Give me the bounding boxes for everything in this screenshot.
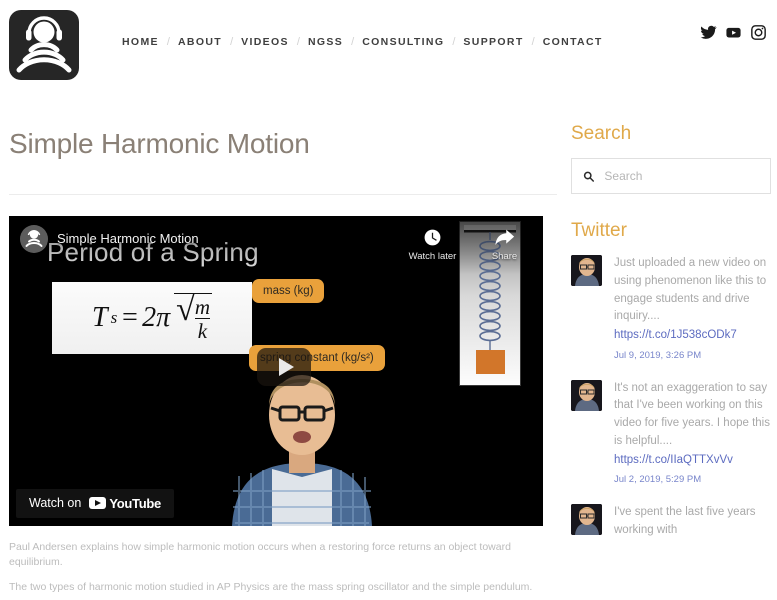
- description-line: The two types of harmonic motion studied…: [9, 580, 557, 596]
- avatar[interactable]: [571, 380, 602, 411]
- search-input[interactable]: [604, 169, 759, 183]
- youtube-logo: YouTube: [89, 496, 161, 511]
- youtube-link[interactable]: [725, 24, 742, 41]
- tweet-date: Jul 2, 2019, 5:29 PM: [614, 474, 771, 485]
- channel-logo-icon: [20, 225, 48, 253]
- nav-item-contact[interactable]: CONTACT: [543, 34, 603, 50]
- description-line: Paul Andersen explains how simple harmon…: [9, 540, 557, 572]
- page-title: Simple Harmonic Motion: [9, 127, 557, 161]
- content-wrapper: Simple Harmonic Motion Period of a Sprin…: [0, 95, 777, 600]
- site-logo[interactable]: [9, 10, 79, 80]
- watch-later-label: Watch later: [405, 251, 460, 262]
- twitter-link[interactable]: [700, 24, 717, 41]
- share-arrow-icon: [477, 227, 532, 249]
- label-mass: mass (kg): [252, 279, 324, 303]
- fraction-denominator: k: [195, 318, 210, 342]
- tweet-text: Just uploaded a new video on using pheno…: [614, 255, 771, 326]
- tweet-item: It's not an exaggeration to say that I'v…: [571, 380, 771, 486]
- twitter-icon: [700, 24, 717, 41]
- video-action-buttons: Watch later Share: [405, 225, 532, 262]
- nav-separator: /: [532, 36, 535, 48]
- tweet-link[interactable]: https://t.co/IIaQTTXvVv: [614, 452, 771, 469]
- twitter-heading: Twitter: [571, 220, 771, 242]
- avatar[interactable]: [571, 504, 602, 535]
- avatar[interactable]: [571, 255, 602, 286]
- nav-separator: /: [297, 36, 300, 48]
- avatar-image: [571, 504, 602, 535]
- nav-item-support[interactable]: SUPPORT: [463, 34, 523, 50]
- nav-item-home[interactable]: HOME: [122, 34, 159, 50]
- formula-equals: =: [120, 302, 139, 334]
- clock-icon: [405, 227, 460, 249]
- nav-item-consulting[interactable]: CONSULTING: [362, 34, 444, 50]
- channel-avatar[interactable]: [20, 225, 48, 253]
- tweet-body: It's not an exaggeration to say that I'v…: [614, 380, 771, 486]
- fraction-numerator: m: [195, 296, 210, 318]
- avatar-image: [571, 380, 602, 411]
- title-divider: [9, 194, 557, 195]
- youtube-play-icon: [89, 497, 106, 509]
- nav-item-about[interactable]: ABOUT: [178, 34, 222, 50]
- sidebar: Search Twitter: [571, 95, 771, 559]
- main-column: Simple Harmonic Motion Period of a Sprin…: [9, 95, 557, 600]
- formula-coefficient: 2π: [142, 302, 170, 334]
- nav-item-videos[interactable]: VIDEOS: [241, 34, 289, 50]
- nav-separator: /: [230, 36, 233, 48]
- play-triangle-icon: [279, 358, 294, 376]
- tweet-date: Jul 9, 2019, 3:26 PM: [614, 350, 771, 361]
- tweet-text: It's not an exaggeration to say that I'v…: [614, 380, 771, 451]
- search-heading: Search: [571, 123, 771, 145]
- period-formula: Ts = 2π √ m k: [92, 293, 212, 342]
- nav-separator: /: [167, 36, 170, 48]
- share-label: Share: [477, 251, 532, 262]
- youtube-wordmark: YouTube: [109, 496, 161, 511]
- tweet-body: Just uploaded a new video on using pheno…: [614, 255, 771, 361]
- nav-separator: /: [351, 36, 354, 48]
- watch-later-button[interactable]: Watch later: [405, 227, 460, 262]
- tweet-link[interactable]: https://t.co/1J538cODk7: [614, 327, 771, 344]
- video-top-overlay: Simple Harmonic Motion Watch later: [9, 216, 543, 274]
- watch-on-label: Watch on: [29, 496, 81, 510]
- tweet-item: I've spent the last five years working w…: [571, 504, 771, 540]
- youtube-icon: [725, 24, 742, 41]
- site-header: HOME / ABOUT / VIDEOS / NGSS / CONSULTIN…: [0, 0, 777, 95]
- formula-lhs: T: [92, 302, 108, 334]
- video-title[interactable]: Simple Harmonic Motion: [57, 231, 199, 246]
- formula-card: Ts = 2π √ m k: [52, 282, 252, 354]
- formula-subscript: s: [111, 308, 118, 328]
- headphones-broadcast-icon: [9, 10, 79, 80]
- nav-item-ngss[interactable]: NGSS: [308, 34, 343, 50]
- search-box[interactable]: [571, 158, 771, 194]
- tweet-text: I've spent the last five years working w…: [614, 504, 771, 540]
- instagram-icon: [750, 24, 767, 41]
- youtube-video-player[interactable]: Period of a Spring Ts = 2π √ m k: [9, 216, 543, 526]
- main-navigation: HOME / ABOUT / VIDEOS / NGSS / CONSULTIN…: [122, 34, 603, 50]
- video-description: Paul Andersen explains how simple harmon…: [9, 540, 557, 596]
- tweet-body: I've spent the last five years working w…: [614, 504, 771, 540]
- formula-radical: √ m k: [174, 293, 212, 342]
- tweet-item: Just uploaded a new video on using pheno…: [571, 255, 771, 361]
- page-root: HOME / ABOUT / VIDEOS / NGSS / CONSULTIN…: [0, 0, 777, 600]
- search-icon: [583, 170, 594, 183]
- share-button[interactable]: Share: [477, 227, 532, 262]
- nav-separator: /: [452, 36, 455, 48]
- social-links: [700, 24, 767, 41]
- watch-on-youtube-button[interactable]: Watch on YouTube: [16, 489, 174, 518]
- avatar-image: [571, 255, 602, 286]
- play-button[interactable]: [257, 348, 311, 386]
- instagram-link[interactable]: [750, 24, 767, 41]
- formula-fraction: m k: [193, 296, 212, 342]
